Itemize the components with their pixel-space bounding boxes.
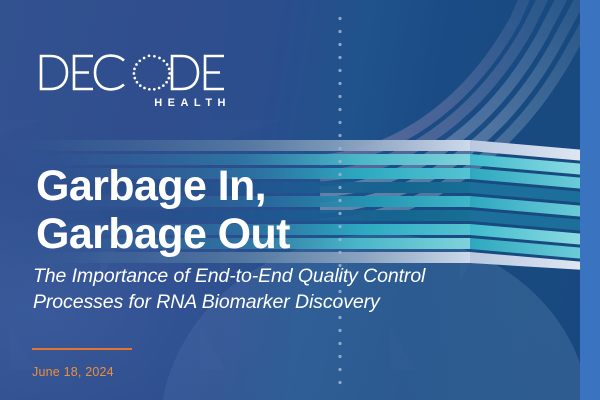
slide-canvas: HEALTH Garbage In, Garbage Out The Impor… xyxy=(0,0,600,400)
title-line-2: Garbage Out xyxy=(36,210,366,259)
logo-tagline: HEALTH xyxy=(38,97,233,109)
decode-health-logo: HEALTH xyxy=(38,52,233,109)
decode-letters-icon xyxy=(38,52,233,94)
page-title: Garbage In, Garbage Out xyxy=(36,162,366,259)
date-divider-rule xyxy=(32,348,132,350)
title-line-1: Garbage In, xyxy=(36,162,366,211)
logo-wordmark xyxy=(38,52,233,94)
subtitle-line-2: Processes for RNA Biomarker Discovery xyxy=(33,289,553,315)
page-subtitle: The Importance of End-to-End Quality Con… xyxy=(33,263,553,315)
slide-content: HEALTH Garbage In, Garbage Out The Impor… xyxy=(0,0,600,400)
date-block: June 18, 2024 xyxy=(32,348,132,379)
subtitle-line-1: The Importance of End-to-End Quality Con… xyxy=(33,263,553,289)
dotted-circle-o-icon xyxy=(133,54,171,90)
date-text: June 18, 2024 xyxy=(32,365,132,379)
